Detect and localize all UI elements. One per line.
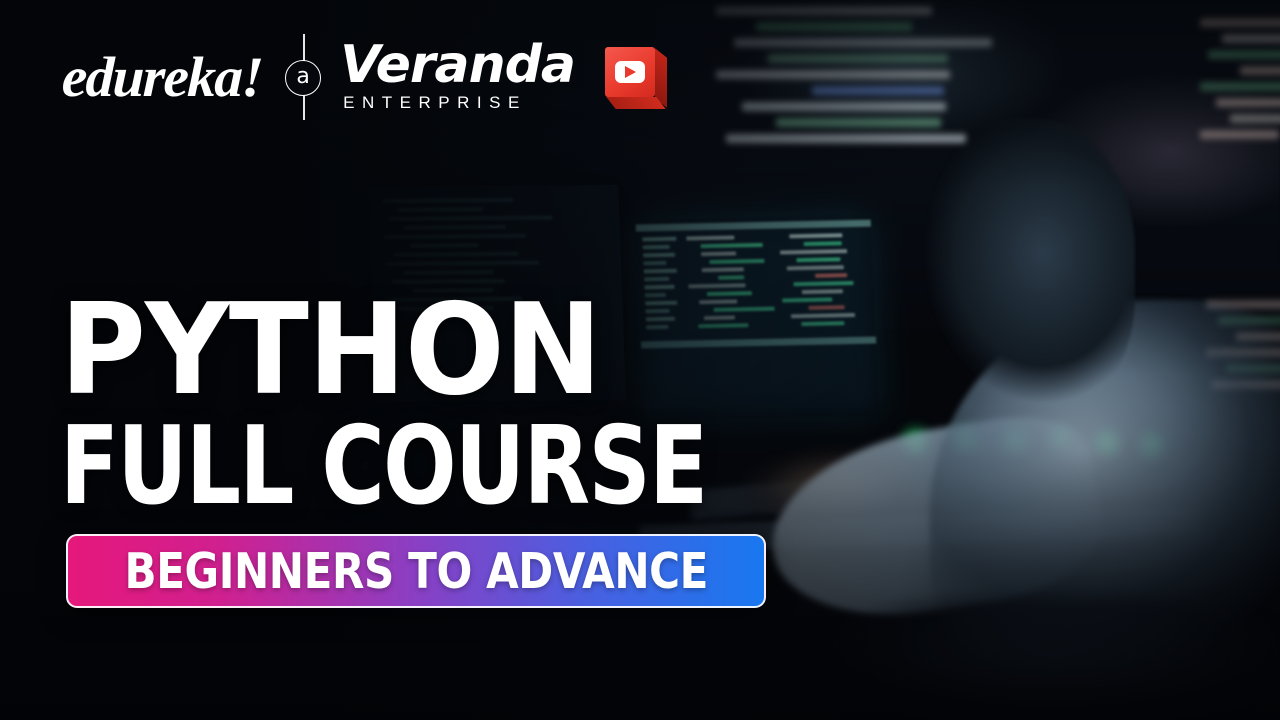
youtube-icon-bottom-face xyxy=(606,97,665,109)
headline-line-2: FULL COURSE xyxy=(60,414,707,520)
headline-line-1: PYTHON xyxy=(60,292,812,408)
at-separator-icon: a xyxy=(278,34,330,120)
youtube-thumbnail: edureka! a Veranda ENTERPRISE PYTHON FUL… xyxy=(0,0,1280,720)
at-glyph: a xyxy=(296,66,309,88)
headline-block: PYTHON FULL COURSE xyxy=(60,292,868,520)
veranda-wordmark: Veranda xyxy=(340,41,575,91)
youtube-play-icon[interactable] xyxy=(605,47,667,109)
subtitle-banner: BEGINNERS TO ADVANCE xyxy=(66,534,766,608)
play-triangle-icon xyxy=(625,66,636,78)
subtitle-banner-label: BEGINNERS TO ADVANCE xyxy=(124,547,708,596)
at-circle: a xyxy=(285,60,321,96)
edureka-logo[interactable]: edureka! xyxy=(61,49,263,106)
veranda-subtitle: ENTERPRISE xyxy=(343,93,575,113)
brand-logo-bar: edureka! a Veranda ENTERPRISE xyxy=(62,34,667,120)
veranda-logo[interactable]: Veranda ENTERPRISE xyxy=(340,41,575,114)
